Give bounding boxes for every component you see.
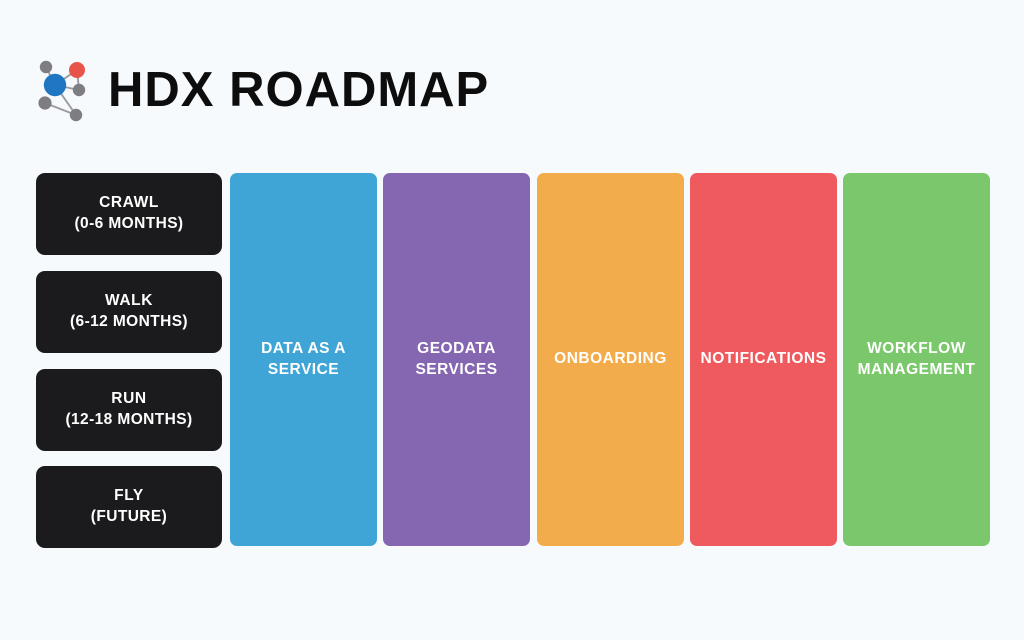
phase-box-run[interactable]: RUN (12-18 MONTHS) <box>36 369 222 451</box>
phase-duration: (12-18 MONTHS) <box>65 410 192 431</box>
phase-duration: (0-6 MONTHS) <box>75 214 184 235</box>
stream-label: DATA AS A SERVICE <box>261 339 346 381</box>
stream-label: ONBOARDING <box>554 349 667 370</box>
phase-name: CRAWL <box>99 193 159 214</box>
stream-label: NOTIFICATIONS <box>701 349 827 370</box>
phase-name: WALK <box>105 291 153 312</box>
phase-box-crawl[interactable]: CRAWL (0-6 MONTHS) <box>36 173 222 255</box>
stream-column-notifications[interactable]: NOTIFICATIONS <box>690 173 837 546</box>
stream-label: WORKFLOW MANAGEMENT <box>858 339 976 381</box>
phase-box-fly[interactable]: FLY (FUTURE) <box>36 466 222 548</box>
stream-label: GEODATA SERVICES <box>415 339 497 381</box>
phase-name: FLY <box>114 486 144 507</box>
page-header: HDX ROADMAP <box>33 57 489 123</box>
stream-column-onboarding[interactable]: ONBOARDING <box>537 173 684 546</box>
hdx-network-logo-icon <box>33 57 91 123</box>
phase-name: RUN <box>111 389 146 410</box>
phase-box-walk[interactable]: WALK (6-12 MONTHS) <box>36 271 222 353</box>
phase-duration: (6-12 MONTHS) <box>70 312 188 333</box>
roadmap-canvas: HDX ROADMAP CRAWL (0-6 MONTHS) WALK (6-1… <box>0 0 1024 640</box>
stream-column-data-as-a-service[interactable]: DATA AS A SERVICE <box>230 173 377 546</box>
stream-column-geodata-services[interactable]: GEODATA SERVICES <box>383 173 530 546</box>
phase-duration: (FUTURE) <box>91 507 167 528</box>
stream-column-workflow-management[interactable]: WORKFLOW MANAGEMENT <box>843 173 990 546</box>
page-title: HDX ROADMAP <box>108 66 489 115</box>
